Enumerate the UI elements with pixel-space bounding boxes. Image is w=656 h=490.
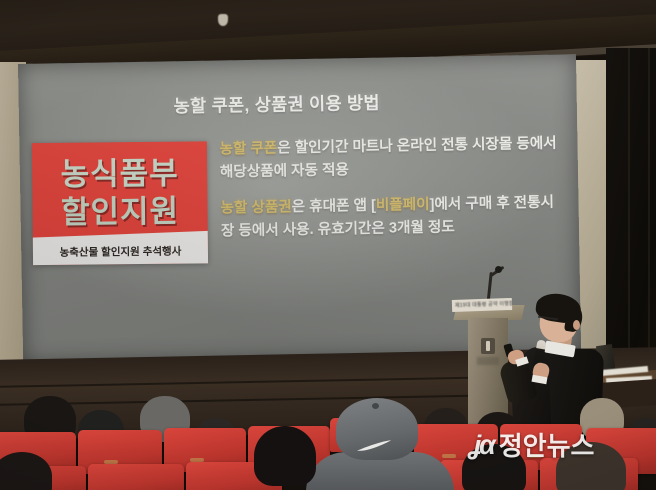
sprinkler-head <box>218 14 228 26</box>
podium-mic-capsule <box>495 266 502 273</box>
slide-paragraph-coupon: 농할 쿠폰은 할인기간 마트나 온라인 전통 시장몰 등에서 해당상품에 자동 … <box>219 132 565 184</box>
highlight-voucher: 농할 상품권 <box>220 199 291 216</box>
auditorium-seat <box>88 464 184 490</box>
ceiling-downlight <box>330 42 348 49</box>
ceiling-downlight <box>228 48 246 55</box>
podium-sign-text: 제19대 대통령 공약 이행점검 <box>455 300 512 309</box>
podium-emblem-glyph <box>486 341 490 351</box>
slide-paragraph-voucher: 농할 상품권은 휴대폰 앱 [비플페이]에서 구매 후 전통시장 등에서 사용.… <box>220 192 566 244</box>
podium-sign: 제19대 대통령 공약 이행점검 <box>452 298 512 312</box>
ceiling-downlight <box>272 44 296 51</box>
highlight-bplpay: 비플페이 <box>376 197 430 214</box>
ceiling-downlight <box>556 26 574 33</box>
slide-title: 농할 쿠폰, 상품권 이용 방법 <box>117 89 437 120</box>
news-watermark: ʝα 정안뉴스 <box>470 432 594 459</box>
voucher-mid: 은 휴대폰 앱 [ <box>292 198 376 215</box>
ceiling-downlight <box>380 38 402 45</box>
nike-swoosh-icon <box>356 440 392 451</box>
cap-button <box>372 403 379 409</box>
podium-emblem-caption <box>477 357 499 365</box>
audience-head <box>254 426 316 486</box>
promo-card-line2: 할인지원 <box>32 185 207 232</box>
watermark-text: 정안뉴스 <box>499 433 595 459</box>
ceiling-downlight <box>436 33 454 40</box>
photograph-root: 농할 쿠폰, 상품권 이용 방법 농식품부 할인지원 농축산물 할인지원 추석행… <box>0 0 656 490</box>
promo-card: 농식품부 할인지원 농축산물 할인지원 추석행사 <box>32 141 208 265</box>
promo-card-subtitle: 농축산물 할인지원 추석행사 <box>33 243 208 260</box>
ceiling-downlight <box>500 30 522 37</box>
ceiling-downlight <box>168 52 194 59</box>
slide-body-text: 농할 쿠폰은 할인기간 마트나 온라인 전통 시장몰 등에서 해당상품에 자동 … <box>219 132 566 256</box>
seat-clip <box>442 454 456 458</box>
highlight-coupon: 농할 쿠폰 <box>219 140 277 157</box>
curtain-fold <box>628 48 630 378</box>
swoosh-svg <box>356 440 394 452</box>
curtain-fold <box>648 48 650 378</box>
speaker-ear <box>573 320 580 330</box>
watermark-logo-mark: ʝα <box>470 432 494 459</box>
